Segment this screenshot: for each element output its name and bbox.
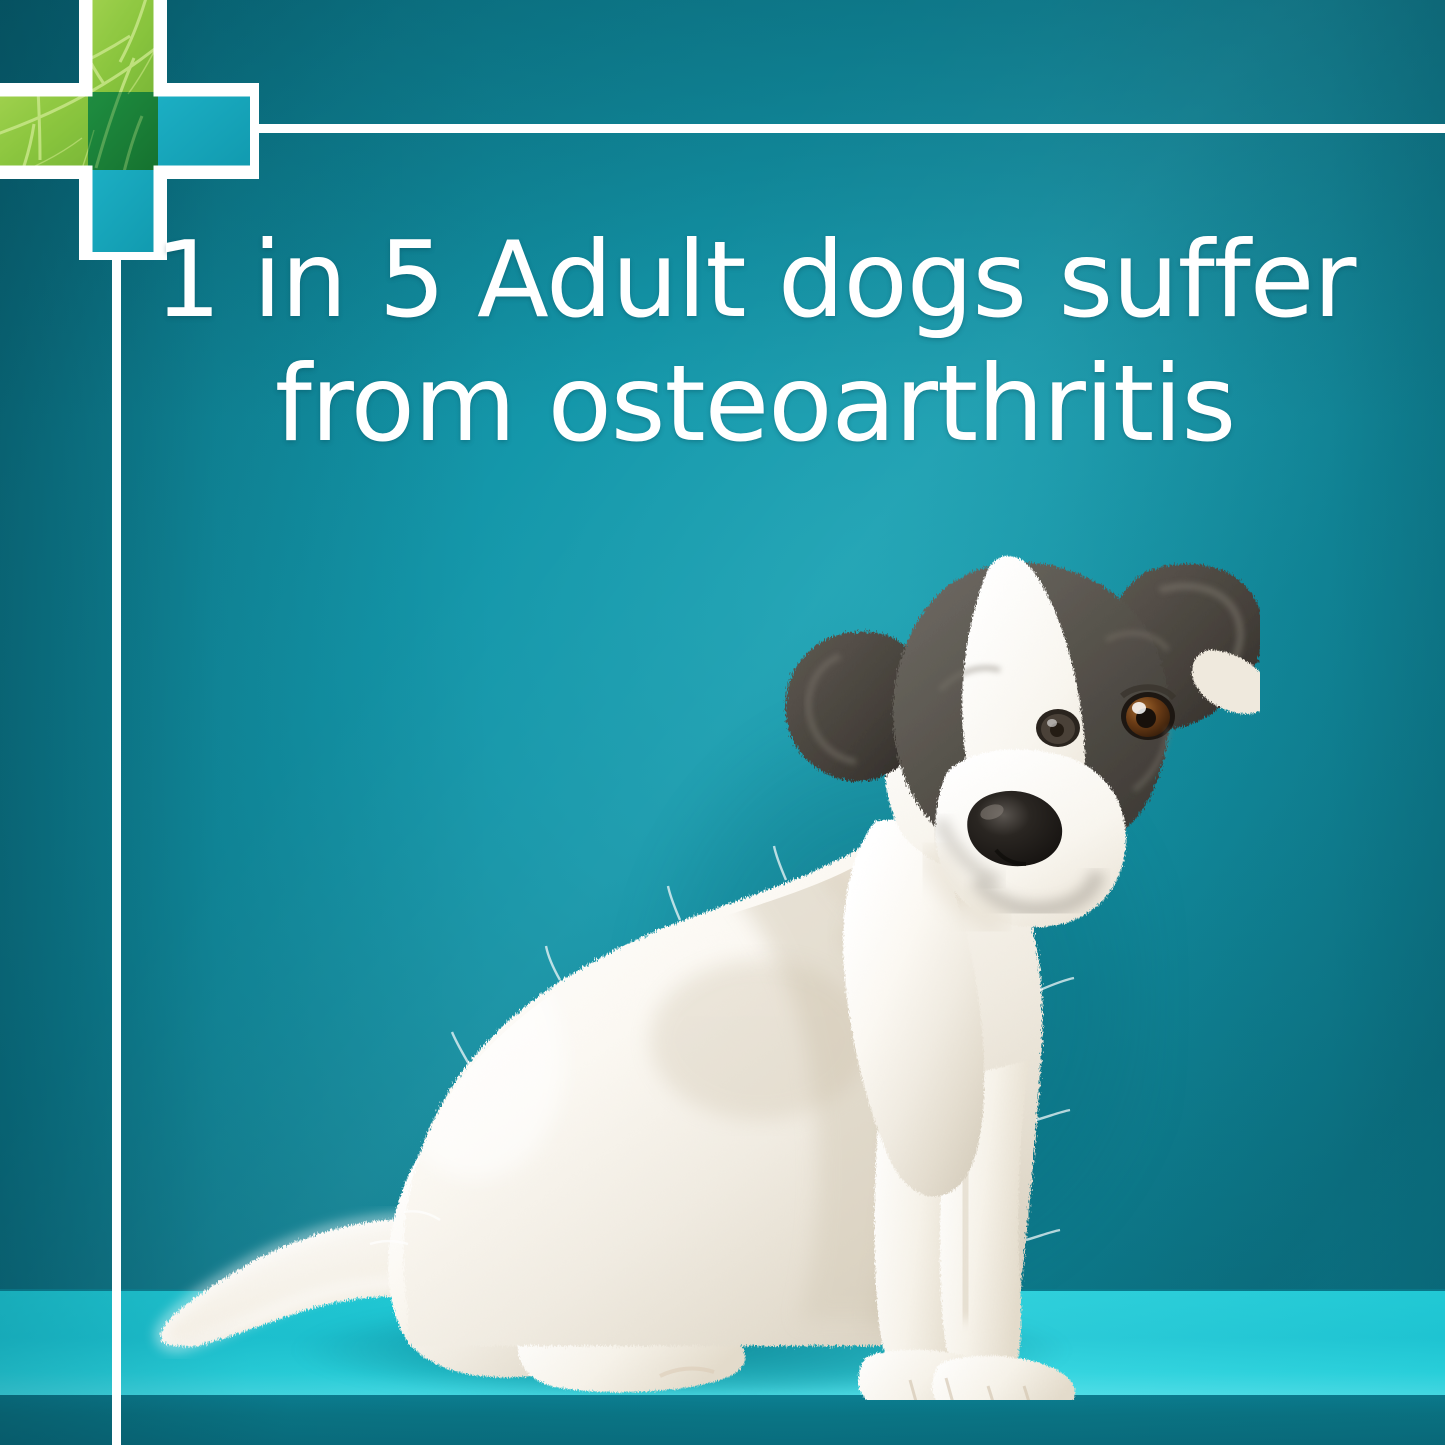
leaf-cross-logo [0,0,260,260]
dog-photo [140,520,1260,1400]
promo-banner: 1 in 5 Adult dogs suffer from osteoarthr… [0,0,1445,1445]
platform-front-shading [0,1395,1445,1445]
left-vertical-rule [112,250,121,1445]
logo-tiles [0,0,250,252]
platform-front-face [0,1395,1445,1445]
top-horizontal-rule [246,124,1445,133]
